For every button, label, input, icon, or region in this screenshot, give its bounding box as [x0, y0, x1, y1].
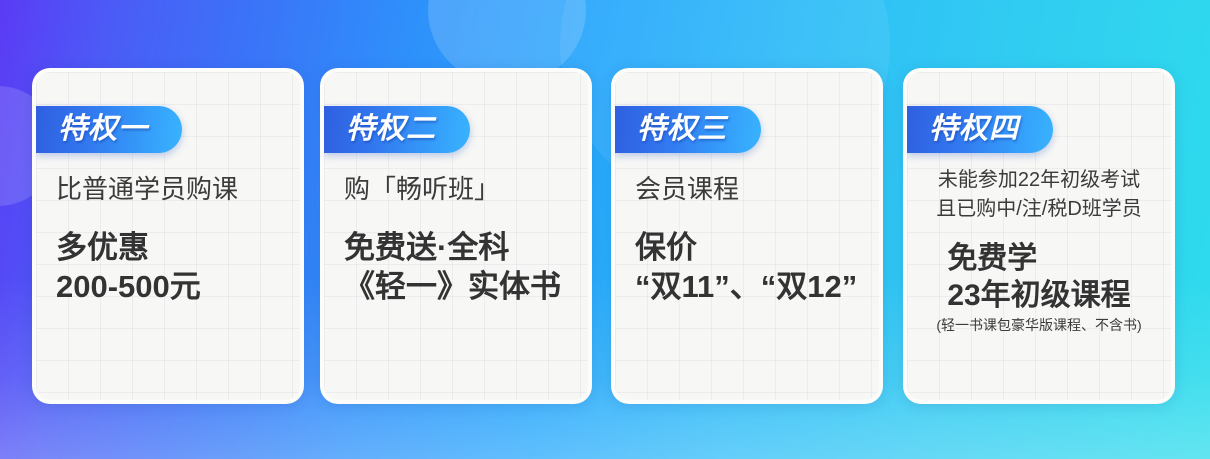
spacer — [344, 206, 568, 228]
privilege-badge: 特权三 — [615, 106, 761, 153]
privilege-card-body: 未能参加22年初级考试 且已购中/注/税D班学员 免费学 23年初级课程 (轻一… — [907, 166, 1171, 336]
privilege-fine-print: (轻一书课包豪华版课程、不含书) — [919, 316, 1159, 336]
privilege-badge-label: 特权三 — [637, 115, 727, 144]
privilege-card-list: 特权一 比普通学员购课 多优惠 200-500元 特权二 购「畅听班」 免费送·… — [0, 0, 1210, 459]
privilege-badge: 特权四 — [907, 106, 1053, 153]
privilege-benefit-line: 免费送·全科 — [344, 228, 568, 267]
privilege-condition-line: 比普通学员购课 — [56, 172, 280, 206]
privilege-benefit-line: 200-500元 — [56, 267, 280, 306]
privilege-badge: 特权一 — [36, 106, 182, 153]
privilege-card[interactable]: 特权二 购「畅听班」 免费送·全科 《轻一》实体书 — [320, 68, 592, 404]
spacer — [56, 206, 280, 228]
spacer — [635, 206, 859, 228]
privilege-benefit-line: 《轻一》实体书 — [344, 267, 568, 306]
privilege-badge-label: 特权四 — [929, 115, 1019, 144]
privilege-card[interactable]: 特权三 会员课程 保价 “双11”、“双12” — [611, 68, 883, 404]
privilege-card-body: 购「畅听班」 免费送·全科 《轻一》实体书 — [324, 172, 588, 306]
privilege-card-body: 会员课程 保价 “双11”、“双12” — [615, 172, 879, 306]
privilege-badge: 特权二 — [324, 106, 470, 153]
privilege-condition-line: 会员课程 — [635, 172, 859, 206]
spacer — [919, 224, 1159, 240]
privilege-badge-label: 特权一 — [58, 115, 148, 144]
privilege-banner: 特权一 比普通学员购课 多优惠 200-500元 特权二 购「畅听班」 免费送·… — [0, 0, 1210, 459]
privilege-card[interactable]: 特权一 比普通学员购课 多优惠 200-500元 — [32, 68, 304, 404]
privilege-card-body: 比普通学员购课 多优惠 200-500元 — [36, 172, 300, 306]
privilege-condition-line: 购「畅听班」 — [344, 172, 568, 206]
privilege-benefit-line: 保价 — [635, 228, 859, 267]
privilege-condition-line: 且已购中/注/税D班学员 — [919, 195, 1159, 224]
privilege-card[interactable]: 特权四 未能参加22年初级考试 且已购中/注/税D班学员 免费学 23年初级课程… — [903, 68, 1175, 404]
privilege-benefit-line: 多优惠 — [56, 228, 280, 267]
privilege-badge-label: 特权二 — [346, 115, 436, 144]
privilege-benefit-line: 免费学 — [947, 240, 1130, 277]
privilege-condition-line: 未能参加22年初级考试 — [919, 166, 1159, 195]
privilege-benefit-line: 23年初级课程 — [947, 277, 1130, 314]
privilege-benefit-group: 免费学 23年初级课程 — [947, 240, 1130, 314]
privilege-benefit-line: “双11”、“双12” — [635, 267, 859, 306]
